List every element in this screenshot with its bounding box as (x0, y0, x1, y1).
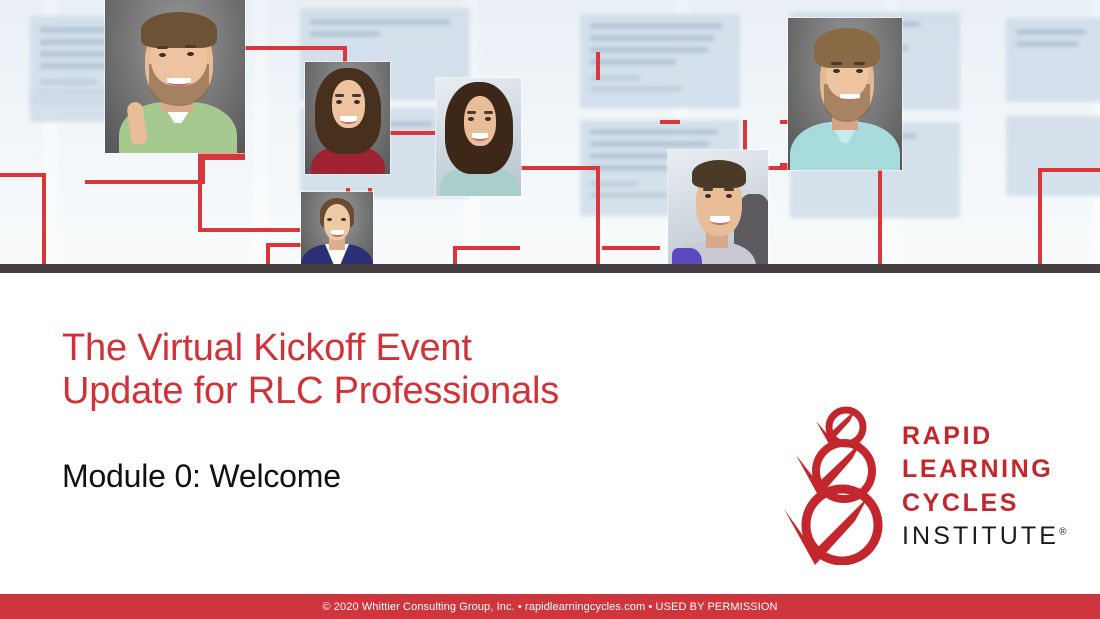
portrait-smiling-man-office (668, 150, 768, 264)
eyebrow-left (703, 188, 713, 191)
eye-right (354, 100, 360, 104)
hair (141, 12, 217, 48)
title-line-2: Update for RLC Professionals (62, 370, 722, 413)
page-title: The Virtual Kickoff Event Update for RLC… (62, 327, 722, 414)
logo-wordmark: RAPID LEARNING CYCLES INSTITUTE® (902, 418, 1066, 553)
portrait-curly-hair-woman-teal-top (436, 78, 521, 196)
portrait-woman-navy-blazer (301, 192, 373, 264)
eye-left (327, 218, 332, 221)
eye-right (485, 117, 491, 121)
logo-word-rapid: RAPID (902, 420, 1066, 453)
eyebrow-right (724, 188, 734, 191)
portrait-bearded-man-green-shirt (105, 0, 245, 153)
eyebrow-left (335, 94, 344, 97)
mouth (840, 94, 860, 101)
slide-subtitle: Module 0: Welcome (62, 458, 341, 495)
eyebrow-right (352, 94, 361, 97)
slide-body: The Virtual Kickoff Event Update for RLC… (0, 273, 1100, 594)
mouth (167, 78, 191, 86)
hair (692, 160, 746, 188)
eyebrow-right (484, 111, 493, 114)
logo-word-cycles: CYCLES (902, 487, 1066, 520)
logo-word-learning: LEARNING (902, 453, 1066, 486)
logo-institute-text: INSTITUTE (902, 522, 1059, 550)
portrait-curly-hair-woman-red-top (305, 62, 390, 174)
registered-trademark-icon: ® (1059, 527, 1066, 538)
slide-footer: © 2020 Whittier Consulting Group, Inc. •… (0, 594, 1100, 619)
logo-word-institute: INSTITUTE® (902, 520, 1066, 553)
eye-left (336, 100, 342, 104)
eye-right (726, 194, 732, 198)
eye-right (856, 69, 863, 73)
mouth (340, 116, 357, 124)
eyebrow-left (157, 46, 168, 49)
section-divider-bar (0, 264, 1100, 273)
eyebrow-right (185, 45, 196, 48)
shirt-accent (672, 248, 702, 264)
presentation-slide: The Virtual Kickoff Event Update for RLC… (0, 0, 1100, 619)
title-line-1: The Virtual Kickoff Event (62, 327, 722, 370)
three-circles-checkmarks-logo-mark (784, 405, 888, 565)
rapid-learning-cycles-institute-logo: RAPID LEARNING CYCLES INSTITUTE® (784, 405, 1074, 565)
copyright-text: © 2020 Whittier Consulting Group, Inc. •… (322, 601, 777, 613)
eye-right (187, 52, 194, 56)
eye-left (468, 117, 474, 121)
eye-left (833, 69, 840, 73)
eye-right (341, 218, 346, 221)
eyebrow-left (467, 111, 476, 114)
eye-left (705, 194, 711, 198)
mouth (331, 230, 344, 237)
mouth (710, 216, 730, 225)
mouth (472, 133, 488, 141)
eyebrow-right (854, 62, 865, 65)
hair (814, 28, 880, 68)
eyebrow-left (831, 62, 842, 65)
eye-left (159, 53, 166, 57)
portrait-man-light-blue-polo (788, 18, 902, 170)
hero-banner-image (0, 0, 1100, 264)
